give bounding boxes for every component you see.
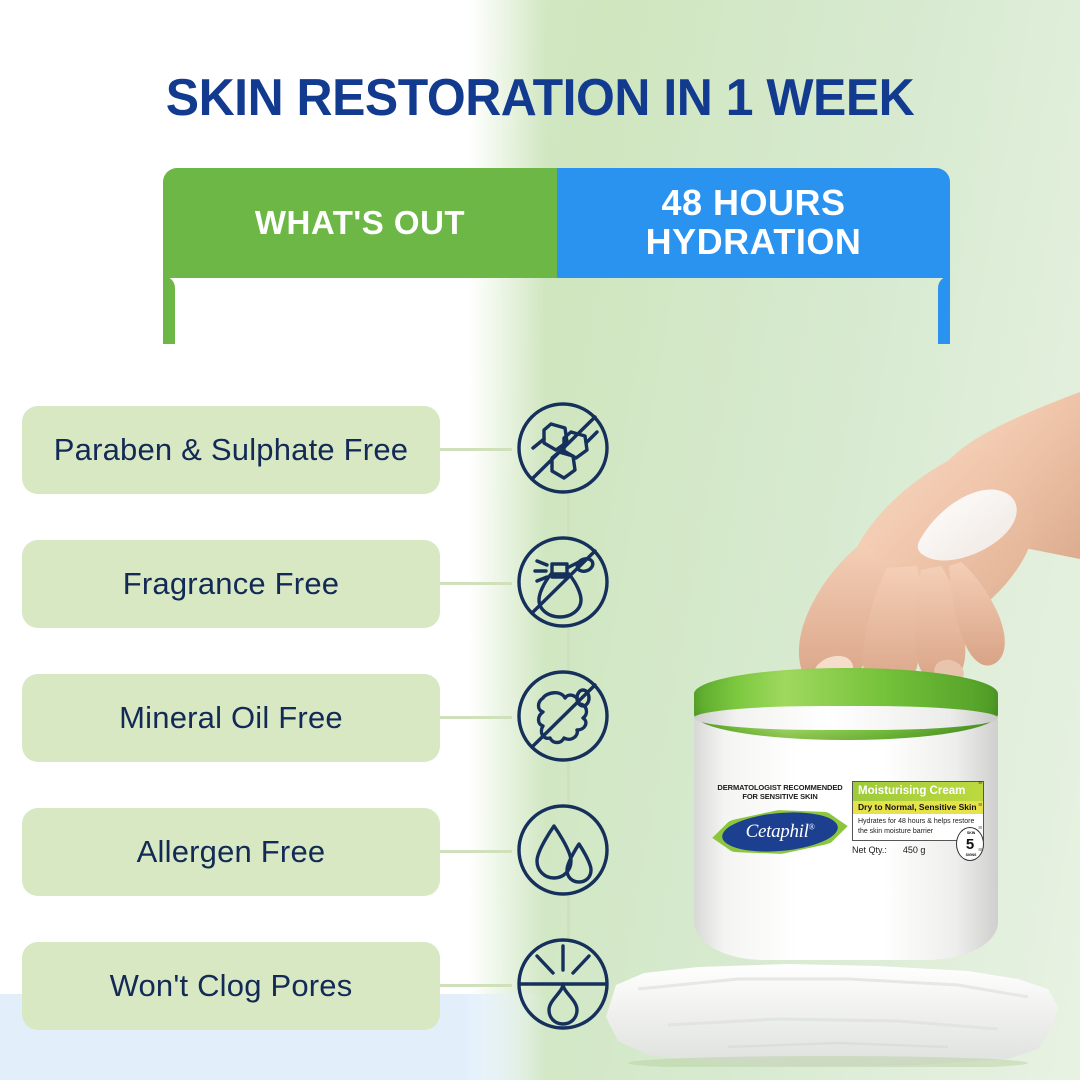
- no-perfume-spray-icon: [509, 528, 617, 636]
- feature-label: Won't Clog Pores: [110, 968, 353, 1004]
- tab-whats-out[interactable]: WHAT'S OUT: [163, 168, 557, 278]
- page-title: SKIN RESTORATION IN 1 WEEK: [22, 68, 1059, 128]
- feature-pill[interactable]: Won't Clog Pores: [22, 942, 440, 1030]
- ruler-tick: |||: [978, 803, 990, 806]
- tab-left-leg: [163, 276, 175, 344]
- list-item[interactable]: Allergen Free: [22, 800, 602, 934]
- tab-bar: WHAT'S OUT 48 HOURS HYDRATION: [163, 168, 950, 343]
- net-qty-label: Net Qty.:: [852, 845, 887, 855]
- connector-line: [440, 984, 512, 987]
- product-label: DERMATOLOGIST RECOMMENDED FOR SENSITIVE …: [700, 783, 992, 865]
- tab-right-leg: [938, 276, 950, 344]
- list-item[interactable]: Fragrance Free: [22, 532, 602, 666]
- badge-bottom-text: SIGNS: [957, 853, 985, 857]
- tab-whats-out-label: WHAT'S OUT: [255, 205, 465, 241]
- badge-number: 5: [966, 836, 974, 853]
- connector-line: [440, 582, 512, 585]
- jar-body-rim: [694, 706, 998, 730]
- feature-list: Paraben & Sulphate Free Fragrance Free: [22, 398, 602, 1068]
- brand-name-text: Cetaphil: [746, 821, 809, 842]
- label-side-ruler: ||| ||| ||| |||: [978, 781, 990, 851]
- tab-48-hours-hydration[interactable]: 48 HOURS HYDRATION: [557, 168, 950, 278]
- brand-registered-mark: ®: [809, 823, 815, 832]
- claim-line-1: DERMATOLOGIST RECOMMENDED: [710, 783, 850, 792]
- connector-line: [440, 448, 512, 451]
- ruler-tick: |||: [978, 826, 990, 829]
- water-droplets-icon: [509, 796, 617, 904]
- tab-hydration-label-line1: 48 HOURS: [646, 184, 862, 223]
- dermatologist-claim: DERMATOLOGIST RECOMMENDED FOR SENSITIVE …: [710, 783, 850, 802]
- ruler-tick: |||: [978, 781, 990, 784]
- feature-pill[interactable]: Paraben & Sulphate Free: [22, 406, 440, 494]
- feature-pill[interactable]: Mineral Oil Free: [22, 674, 440, 762]
- list-item[interactable]: Won't Clog Pores: [22, 934, 602, 1068]
- feature-label: Allergen Free: [137, 834, 326, 870]
- product-jar: DERMATOLOGIST RECOMMENDED FOR SENSITIVE …: [686, 668, 1006, 968]
- net-qty-value: 450 g: [903, 845, 926, 855]
- feature-label: Paraben & Sulphate Free: [54, 432, 408, 468]
- claim-line-2: FOR SENSITIVE SKIN: [710, 792, 850, 801]
- skin-type: Dry to Normal, Sensitive Skin: [853, 801, 983, 815]
- feature-label: Mineral Oil Free: [119, 700, 343, 736]
- feature-pill[interactable]: Allergen Free: [22, 808, 440, 896]
- tab-hydration-label-line2: HYDRATION: [646, 223, 862, 262]
- brand-name: Cetaphil®: [712, 821, 848, 843]
- list-item[interactable]: Paraben & Sulphate Free: [22, 398, 602, 532]
- no-molecule-icon: [509, 394, 617, 502]
- no-oil-splash-icon: [509, 662, 617, 770]
- stone-pedestal: [578, 955, 1072, 1067]
- list-item[interactable]: Mineral Oil Free: [22, 666, 602, 800]
- feature-label: Fragrance Free: [123, 566, 339, 602]
- connector-line: [440, 850, 512, 853]
- feature-pill[interactable]: Fragrance Free: [22, 540, 440, 628]
- cetaphil-logo: Cetaphil®: [712, 807, 848, 857]
- connector-line: [440, 716, 512, 719]
- product-name: Moisturising Cream: [853, 782, 983, 801]
- ruler-tick: |||: [978, 848, 990, 851]
